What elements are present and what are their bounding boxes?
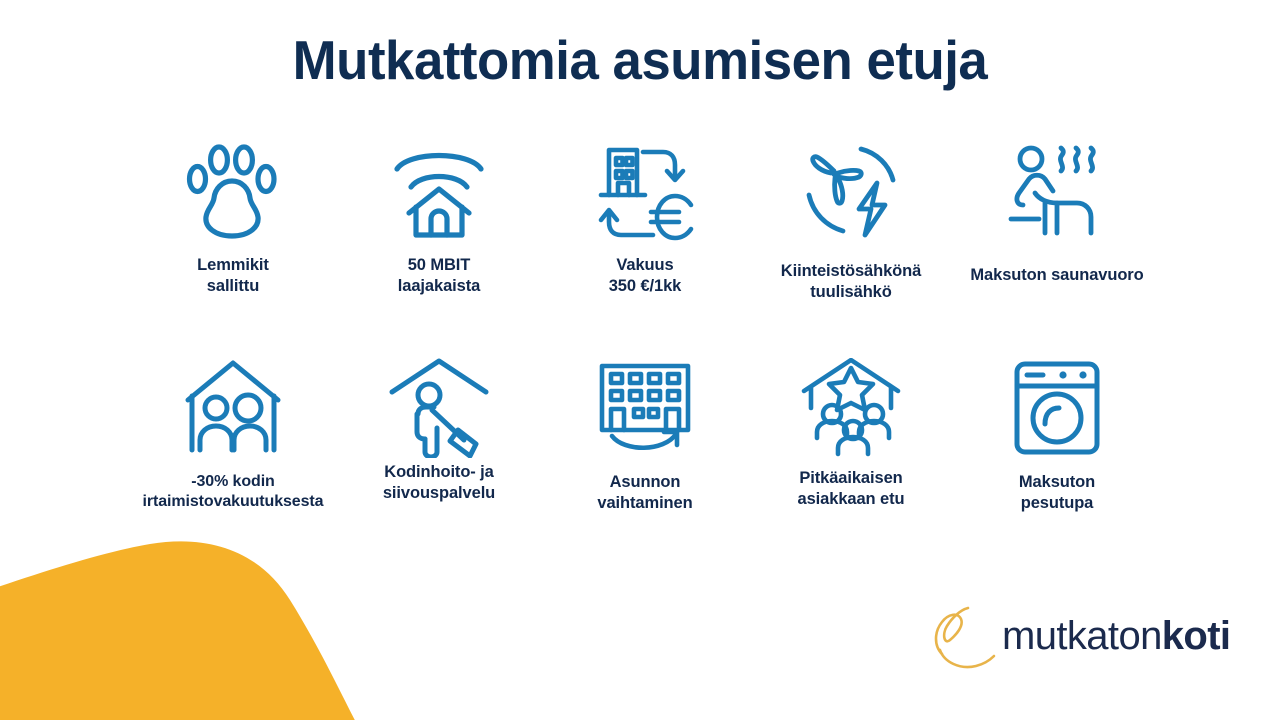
benefit-label: Pitkäaikaisen asiakkaan etu (798, 468, 905, 510)
benefit-label: Vakuus 350 €/1kk (609, 255, 682, 297)
benefit-label: Kiinteistösähkönä tuulisähkö (781, 261, 921, 303)
benefit-item-sauna: Maksuton saunavuoro (954, 143, 1160, 286)
apartment-swap-icon (592, 358, 698, 458)
paw-print-icon (182, 143, 284, 243)
benefit-item-apartment-swap: Asunnon vaihtaminen (542, 358, 748, 514)
logo-text-bold: koti (1162, 614, 1231, 658)
benefit-label: Kodinhoito- ja siivouspalvelu (383, 462, 495, 504)
benefit-item-cleaning: Kodinhoito- ja siivouspalvelu (336, 358, 542, 504)
benefit-label: Asunnon vaihtaminen (597, 472, 692, 514)
wifi-house-icon (389, 143, 489, 243)
benefit-item-pets: Lemmikit sallittu (130, 143, 336, 297)
house-family-icon (180, 358, 286, 458)
benefits-row-2: -30% kodin irtaimistovakuutuksesta Kodin… (130, 358, 1160, 514)
logo-text-light: mutkaton (1002, 614, 1162, 658)
sauna-person-steam-icon (1005, 143, 1109, 243)
washing-machine-icon (1007, 358, 1107, 458)
building-euro-refund-icon (593, 143, 697, 243)
benefit-item-laundry: Maksuton pesutupa (954, 358, 1160, 514)
wind-turbine-lightning-icon (799, 143, 903, 243)
page-title: Mutkattomia asumisen etuja (26, 28, 1255, 92)
benefit-label: 50 MBIT laajakaista (398, 255, 480, 297)
cleaning-person-mop-icon (386, 358, 492, 458)
brand-logo: mutkatonkoti (930, 600, 1230, 672)
benefit-item-insurance: -30% kodin irtaimistovakuutuksesta (130, 358, 336, 513)
benefit-label: -30% kodin irtaimistovakuutuksesta (143, 472, 324, 513)
benefit-label: Maksuton pesutupa (1019, 472, 1095, 514)
benefit-item-broadband: 50 MBIT laajakaista (336, 143, 542, 297)
house-star-people-icon (798, 358, 904, 458)
benefit-item-wind-power: Kiinteistösähkönä tuulisähkö (748, 143, 954, 303)
benefit-item-deposit: Vakuus 350 €/1kk (542, 143, 748, 297)
logo-wordmark: mutkatonkoti (1002, 616, 1230, 656)
benefit-item-loyalty: Pitkäaikaisen asiakkaan etu (748, 358, 954, 510)
heart-swoosh-icon (930, 600, 998, 672)
benefit-label: Lemmikit sallittu (197, 255, 269, 297)
benefits-row-1: Lemmikit sallittu 50 MBIT laajakaista (130, 143, 1160, 303)
slide-canvas: Mutkattomia asumisen etuja Lemmikit sall… (0, 0, 1280, 720)
benefit-label: Maksuton saunavuoro (970, 265, 1143, 286)
amber-blob-decoration (0, 530, 390, 720)
